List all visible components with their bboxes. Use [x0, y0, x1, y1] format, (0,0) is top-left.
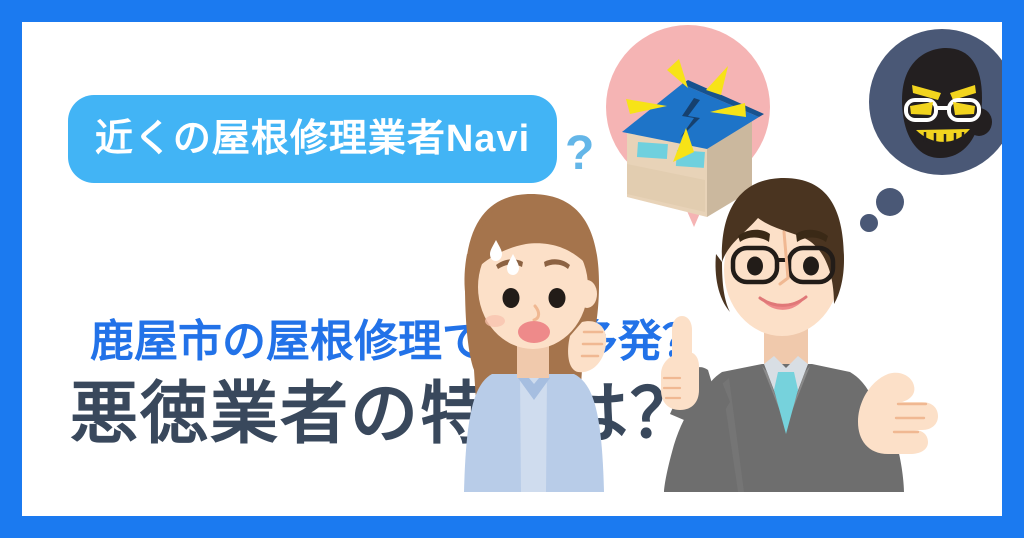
banner-frame: 鹿屋市の屋根修理で詐欺多発？ 悪徳業者の特徴は？ 近くの屋根修理業者Navi ?: [0, 0, 1024, 538]
worried-woman: [464, 194, 606, 492]
pointing-hand-icon: [661, 316, 699, 410]
open-hand-icon: [858, 373, 938, 454]
banner-panel: 鹿屋市の屋根修理で詐欺多発？ 悪徳業者の特徴は？ 近くの屋根修理業者Navi ?: [22, 22, 1002, 516]
pointing-businessman: [661, 178, 938, 492]
illustration-artwork: [22, 22, 1002, 516]
scammer-thought-bubble: [860, 29, 1002, 232]
